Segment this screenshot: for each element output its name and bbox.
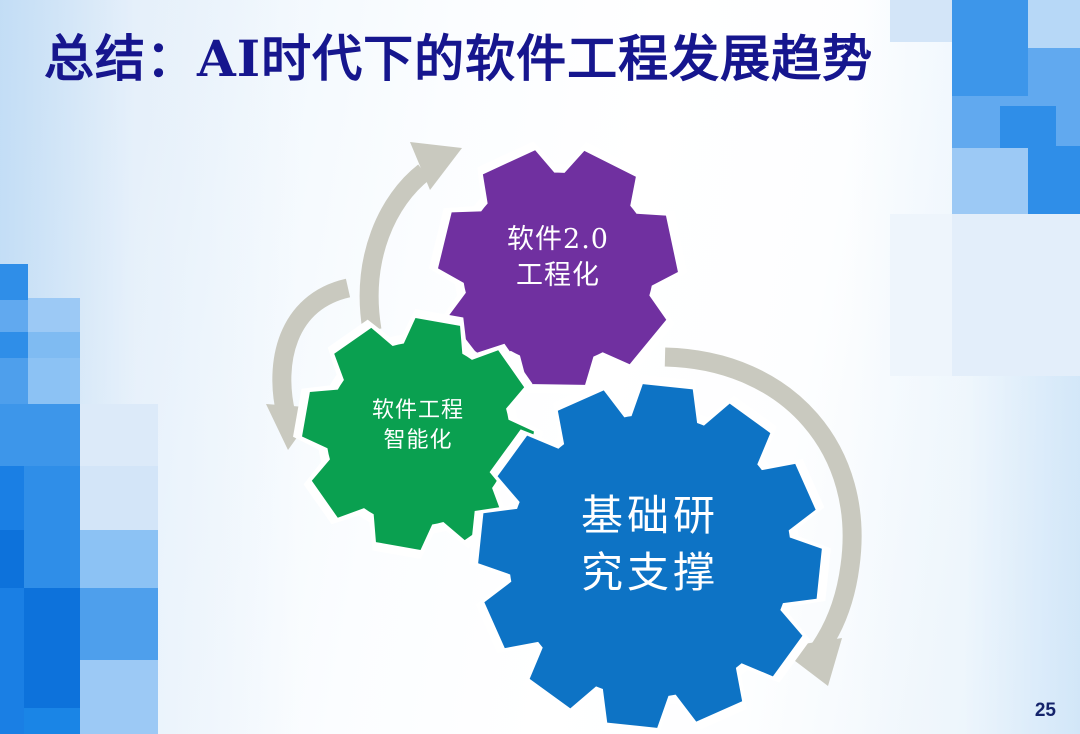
gear-cycle-diagram: 软件2.0工程化 软件工程智能化 基础研究支撑	[0, 0, 1080, 734]
presentation-slide: 总结：AI时代下的软件工程发展趋势 软件2.0工程化 软件工程智能化 基础研究支…	[0, 0, 1080, 734]
arrow-to-purple-gear-shaft	[369, 172, 424, 330]
diagram-canvas	[0, 0, 1080, 734]
page-number: 25	[1035, 700, 1056, 722]
